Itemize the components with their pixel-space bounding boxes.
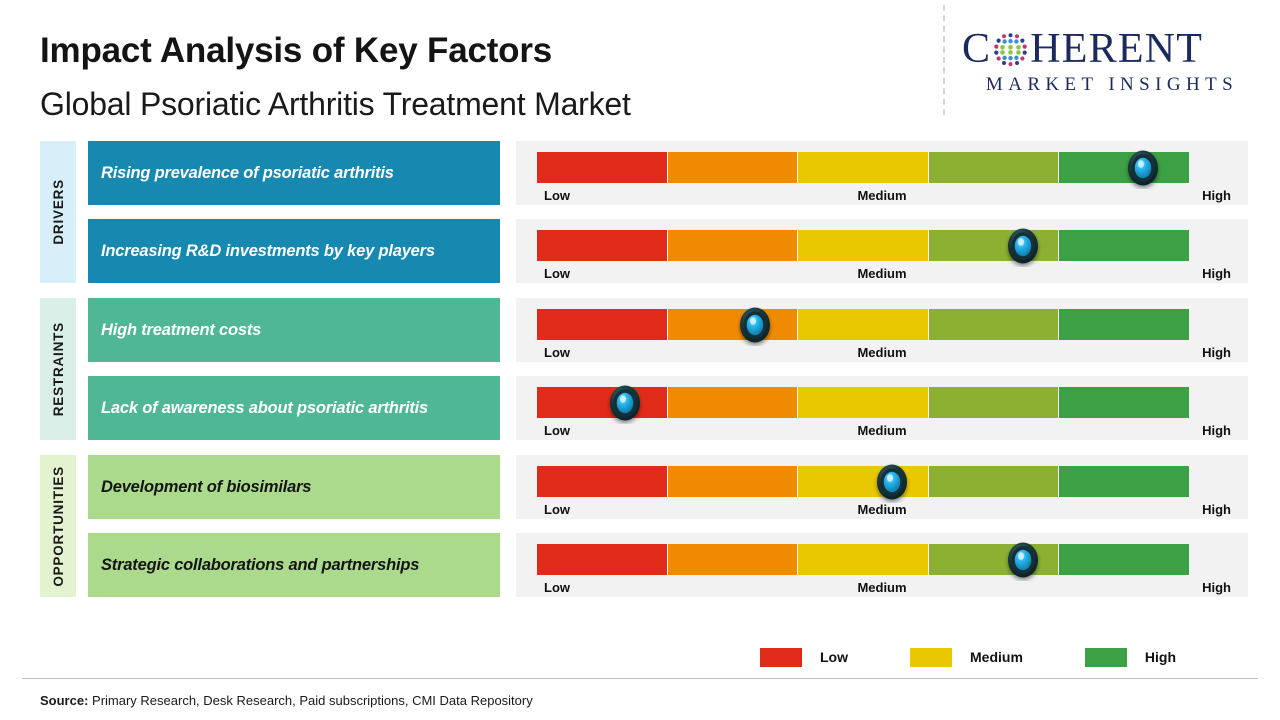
scale-segment-3 bbox=[798, 152, 929, 183]
category-block-restraints: RESTRAINTS bbox=[40, 298, 76, 440]
coherent-market-insights-logo: C bbox=[962, 26, 1262, 100]
impact-scale-bar[interactable] bbox=[537, 309, 1189, 340]
scale-segment-5 bbox=[1059, 466, 1189, 497]
impact-marker[interactable] bbox=[1002, 539, 1044, 581]
scale-segment-3 bbox=[798, 230, 929, 261]
scale-tick-medium: Medium bbox=[516, 423, 1248, 438]
factor-label: Increasing R&D investments by key player… bbox=[101, 242, 435, 261]
impact-scale-bar[interactable] bbox=[537, 544, 1189, 575]
legend-swatch bbox=[1085, 648, 1127, 667]
factor-bar[interactable]: Development of biosimilars bbox=[88, 455, 500, 519]
impact-scale[interactable]: LowMediumHigh bbox=[516, 533, 1248, 597]
factor-bar[interactable]: Increasing R&D investments by key player… bbox=[88, 219, 500, 283]
scale-segment-1 bbox=[537, 466, 668, 497]
scale-tick-medium: Medium bbox=[516, 502, 1248, 517]
scale-segment-1 bbox=[537, 544, 668, 575]
logo-letters-herent: HERENT bbox=[1030, 26, 1203, 72]
source-label: Source: bbox=[40, 693, 88, 708]
factor-label: Rising prevalence of psoriatic arthritis bbox=[101, 164, 394, 183]
scale-segment-5 bbox=[1059, 230, 1189, 261]
scale-segment-3 bbox=[798, 544, 929, 575]
category-block-drivers: DRIVERS bbox=[40, 141, 76, 283]
scale-segment-5 bbox=[1059, 387, 1189, 418]
impact-marker[interactable] bbox=[1122, 147, 1164, 189]
scale-segment-1 bbox=[537, 152, 668, 183]
scale-tick-high: High bbox=[1202, 266, 1231, 281]
impact-scale-bar[interactable] bbox=[537, 466, 1189, 497]
factor-bar[interactable]: High treatment costs bbox=[88, 298, 500, 362]
legend-label: High bbox=[1145, 649, 1176, 665]
scale-segment-2 bbox=[668, 544, 799, 575]
scale-tick-medium: Medium bbox=[516, 188, 1248, 203]
legend-label: Medium bbox=[970, 649, 1023, 665]
scale-segment-5 bbox=[1059, 309, 1189, 340]
factor-bar[interactable]: Strategic collaborations and partnership… bbox=[88, 533, 500, 597]
scale-tick-high: High bbox=[1202, 502, 1231, 517]
impact-scale-bar[interactable] bbox=[537, 230, 1189, 261]
scale-segment-1 bbox=[537, 230, 668, 261]
category-block-opportunities: OPPORTUNITIES bbox=[40, 455, 76, 597]
factor-label: Strategic collaborations and partnership… bbox=[101, 556, 419, 575]
scale-tick-high: High bbox=[1202, 188, 1231, 203]
factor-bar[interactable]: Lack of awareness about psoriatic arthri… bbox=[88, 376, 500, 440]
scale-segment-3 bbox=[798, 309, 929, 340]
scale-tick-high: High bbox=[1202, 345, 1231, 360]
scale-segment-3 bbox=[798, 387, 929, 418]
legend-item: High bbox=[1085, 648, 1176, 667]
impact-scale[interactable]: LowMediumHigh bbox=[516, 298, 1248, 362]
impact-scale[interactable]: LowMediumHigh bbox=[516, 376, 1248, 440]
legend-label: Low bbox=[820, 649, 848, 665]
factor-label: High treatment costs bbox=[101, 321, 261, 340]
factor-bar[interactable]: Rising prevalence of psoriatic arthritis bbox=[88, 141, 500, 205]
logo-tagline: MARKET INSIGHTS bbox=[964, 74, 1260, 96]
impact-scale[interactable]: LowMediumHigh bbox=[516, 455, 1248, 519]
scale-segment-2 bbox=[668, 309, 799, 340]
source-note: Source: Primary Research, Desk Research,… bbox=[40, 693, 533, 708]
impact-marker[interactable] bbox=[734, 304, 776, 346]
scale-tick-medium: Medium bbox=[516, 345, 1248, 360]
scale-segment-4 bbox=[929, 466, 1060, 497]
category-label: DRIVERS bbox=[51, 179, 66, 245]
scale-tick-medium: Medium bbox=[516, 580, 1248, 595]
impact-scale[interactable]: LowMediumHigh bbox=[516, 141, 1248, 205]
legend-swatch bbox=[910, 648, 952, 667]
scale-segment-4 bbox=[929, 152, 1060, 183]
impact-marker[interactable] bbox=[1002, 225, 1044, 267]
logo-wordmark: C bbox=[962, 26, 1262, 72]
scale-segment-1 bbox=[537, 309, 668, 340]
scale-tick-high: High bbox=[1202, 580, 1231, 595]
header-divider bbox=[943, 5, 945, 115]
impact-marker[interactable] bbox=[604, 382, 646, 424]
scale-tick-medium: Medium bbox=[516, 266, 1248, 281]
scale-segment-2 bbox=[668, 466, 799, 497]
factor-label: Lack of awareness about psoriatic arthri… bbox=[101, 399, 428, 418]
impact-scale[interactable]: LowMediumHigh bbox=[516, 219, 1248, 283]
source-text: Primary Research, Desk Research, Paid su… bbox=[88, 693, 532, 708]
legend: LowMediumHigh bbox=[760, 645, 1200, 669]
legend-swatch bbox=[760, 648, 802, 667]
dotted-globe-icon bbox=[992, 31, 1029, 68]
page-title: Impact Analysis of Key Factors bbox=[40, 31, 552, 71]
scale-segment-2 bbox=[668, 152, 799, 183]
scale-segment-5 bbox=[1059, 544, 1189, 575]
logo-letter-c: C bbox=[962, 26, 991, 72]
scale-tick-high: High bbox=[1202, 423, 1231, 438]
scale-segment-2 bbox=[668, 230, 799, 261]
scale-segment-1 bbox=[537, 387, 668, 418]
header: Impact Analysis of Key Factors Global Ps… bbox=[0, 0, 1280, 132]
scale-segment-4 bbox=[929, 387, 1060, 418]
legend-item: Medium bbox=[910, 648, 1023, 667]
impact-matrix: DRIVERSRESTRAINTSOPPORTUNITIESRising pre… bbox=[0, 132, 1280, 622]
category-label: RESTRAINTS bbox=[51, 322, 66, 416]
impact-marker[interactable] bbox=[871, 461, 913, 503]
impact-scale-bar[interactable] bbox=[537, 152, 1189, 183]
scale-segment-2 bbox=[668, 387, 799, 418]
legend-item: Low bbox=[760, 648, 848, 667]
scale-segment-4 bbox=[929, 309, 1060, 340]
footer-divider bbox=[22, 678, 1258, 679]
page-subtitle: Global Psoriatic Arthritis Treatment Mar… bbox=[40, 86, 631, 123]
category-label: OPPORTUNITIES bbox=[51, 466, 66, 587]
factor-label: Development of biosimilars bbox=[101, 478, 311, 497]
